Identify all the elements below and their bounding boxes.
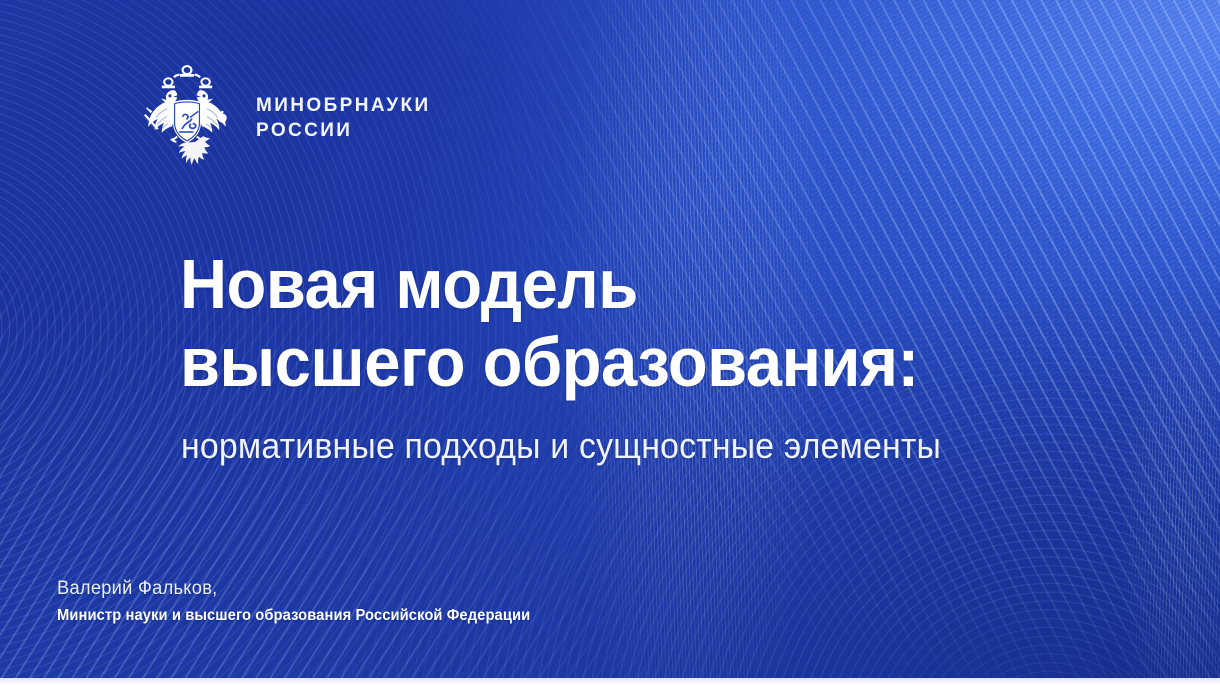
ministry-logo: МИНОБРНАУКИ РОССИИ — [138, 62, 431, 174]
russian-double-headed-eagle-coat-of-arms-icon — [138, 62, 236, 174]
slide-title: Новая модель высшего образования: — [180, 245, 980, 402]
title-slide: МИНОБРНАУКИ РОССИИ Новая модель высшего … — [0, 0, 1220, 685]
bottom-edge-strip — [0, 678, 1220, 685]
speaker-name: Валерий Фальков, — [57, 578, 535, 600]
speaker-role: Министр науки и высшего образования Росс… — [57, 607, 530, 625]
slide-subtitle: нормативные подходы и сущностные элемент… — [181, 425, 941, 467]
speaker-credit: Валерий Фальков, Министр науки и высшего… — [57, 578, 555, 625]
ministry-logo-text: МИНОБРНАУКИ РОССИИ — [256, 93, 431, 143]
